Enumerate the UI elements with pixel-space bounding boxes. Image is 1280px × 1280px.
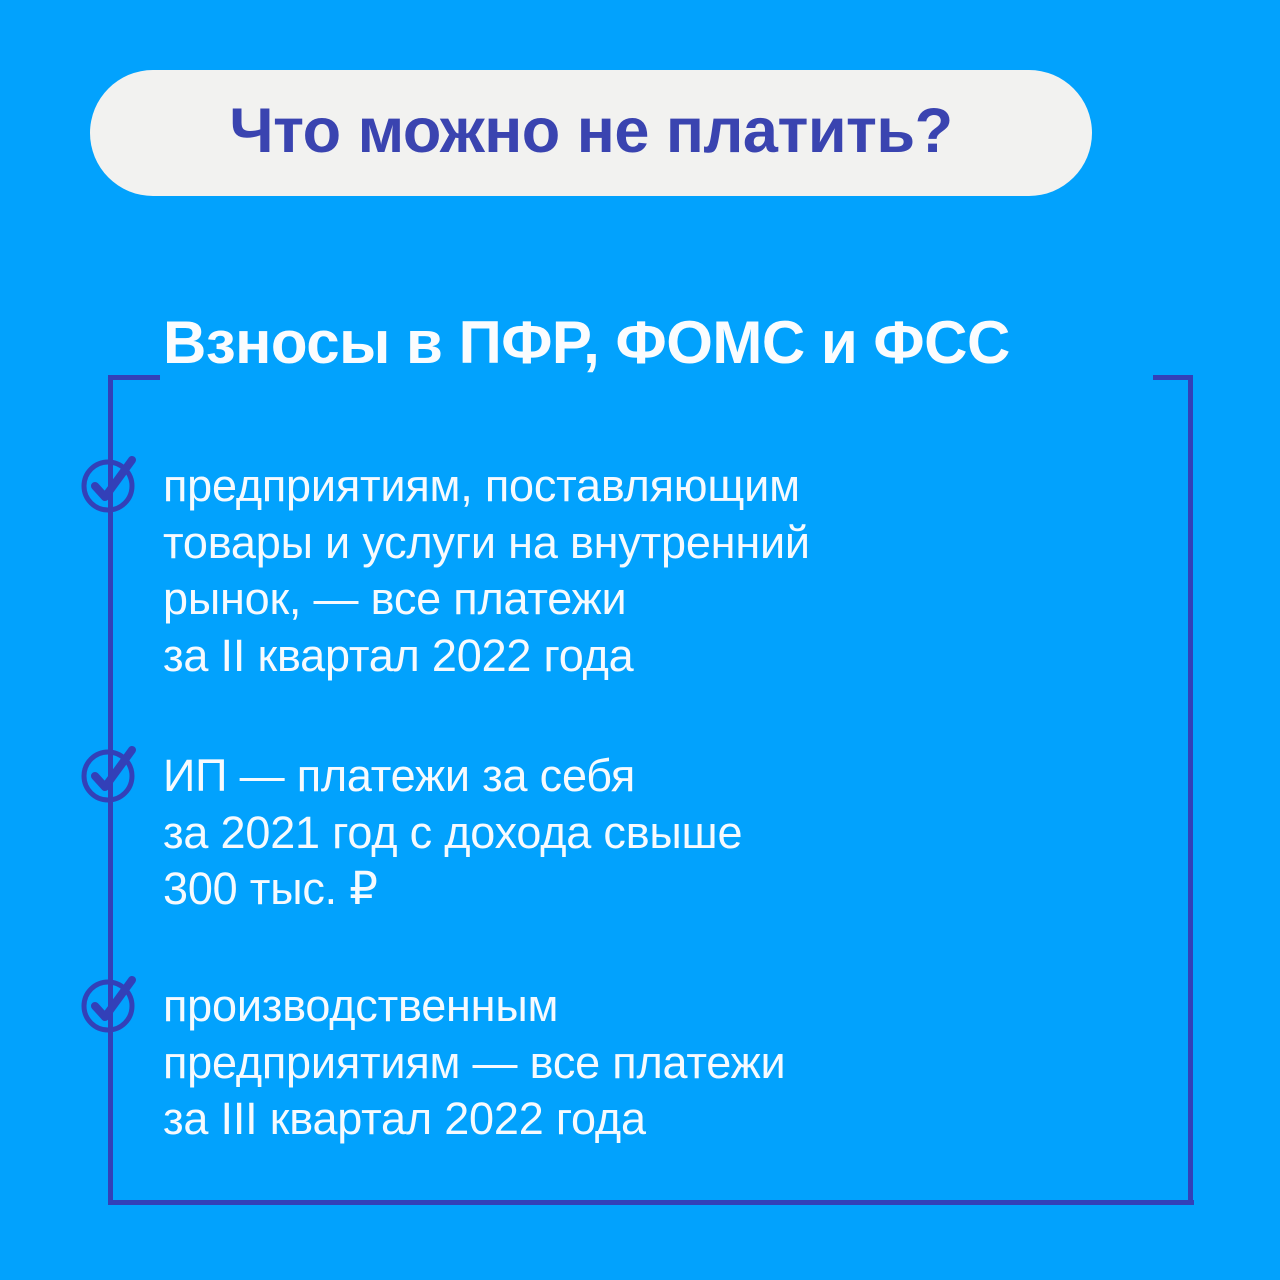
page-title: Что можно не платить? xyxy=(229,100,952,167)
check-circle-icon xyxy=(80,452,142,514)
list-item-label: производственным предприятиям — все плат… xyxy=(163,980,785,1144)
list-item-label: предприятиям, поставляющим товары и услу… xyxy=(163,460,810,681)
frame-edge-top-left xyxy=(108,375,160,380)
frame-edge-top-right xyxy=(1153,375,1193,380)
list-item: производственным предприятиям — все плат… xyxy=(163,978,1193,1148)
list-item: предприятиям, поставляющим товары и услу… xyxy=(163,458,1193,685)
page-title-pill: Что можно не платить? xyxy=(90,70,1092,196)
frame-edge-bottom xyxy=(108,1200,1194,1205)
check-circle-icon xyxy=(80,742,142,804)
check-circle-icon xyxy=(80,972,142,1034)
list-item-label: ИП — платежи за себя за 2021 год с доход… xyxy=(163,750,742,914)
section-heading: Взносы в ПФР, ФОМС и ФСС xyxy=(163,311,1163,374)
list-item: ИП — платежи за себя за 2021 год с доход… xyxy=(163,748,1193,918)
